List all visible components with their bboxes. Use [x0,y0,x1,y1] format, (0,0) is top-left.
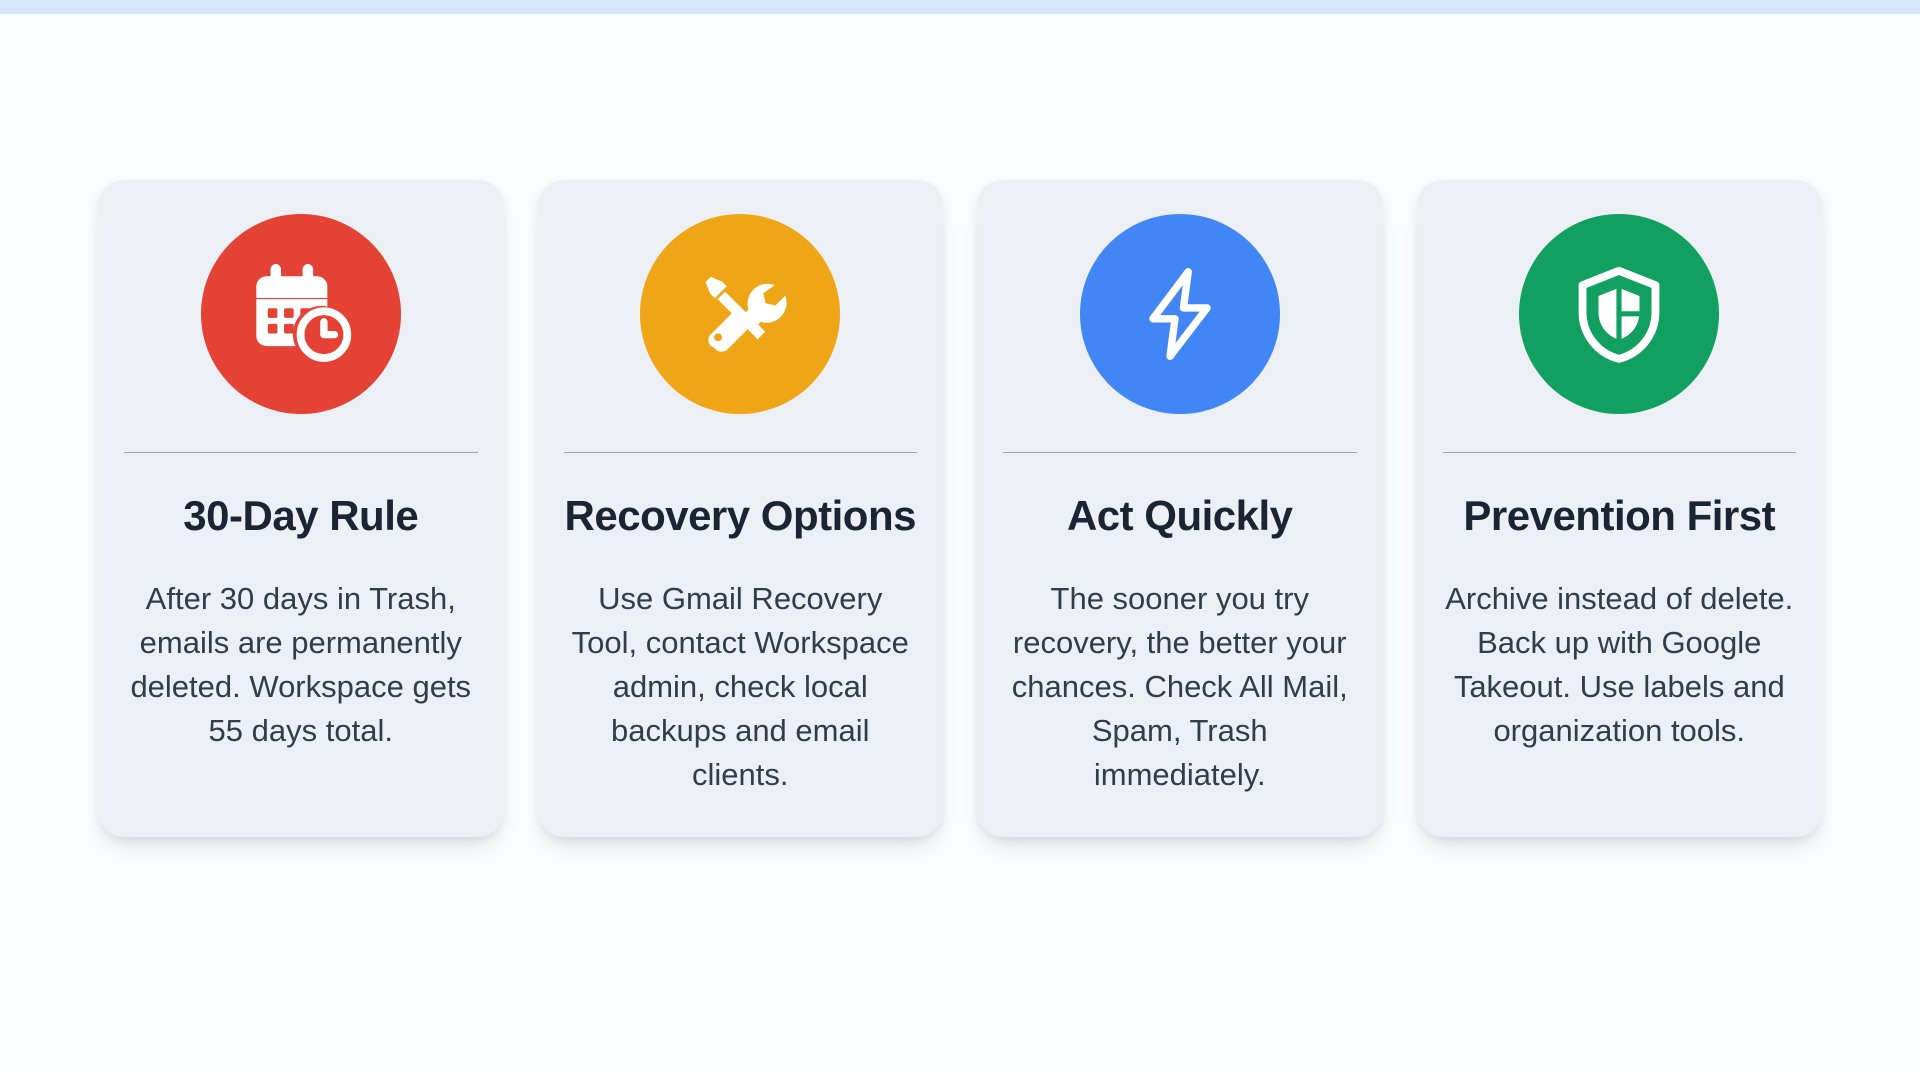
card-divider [1003,452,1357,453]
card-body: The sooner you try recovery, the better … [1003,577,1357,797]
card-title: 30-Day Rule [183,491,418,541]
card-divider [1443,452,1797,453]
cards-stage: 30-Day Rule After 30 days in Trash, emai… [0,14,1920,1072]
card-divider [564,452,918,453]
top-accent-strip [0,0,1920,14]
tools-icon-badge [640,214,840,414]
info-card-row: 30-Day Rule After 30 days in Trash, emai… [98,180,1822,837]
info-card-act-quickly[interactable]: Act Quickly The sooner you try recovery,… [977,180,1383,837]
card-body: Archive instead of delete. Back up with … [1443,577,1797,753]
calendar-clock-icon [246,259,356,369]
shield-icon [1565,260,1673,368]
card-title: Act Quickly [1067,491,1293,541]
shield-icon-badge [1519,214,1719,414]
card-body: After 30 days in Trash, emails are perma… [124,577,478,753]
card-divider [124,452,478,453]
calendar-clock-icon-badge [201,214,401,414]
card-title: Recovery Options [565,491,916,541]
info-card-recovery-options[interactable]: Recovery Options Use Gmail Recovery Tool… [538,180,944,837]
lightning-bolt-icon [1128,262,1232,366]
card-title: Prevention First [1463,491,1775,541]
info-card-prevention-first[interactable]: Prevention First Archive instead of dele… [1417,180,1823,837]
card-body: Use Gmail Recovery Tool, contact Workspa… [564,577,918,797]
tools-icon [684,258,796,370]
info-card-30-day-rule[interactable]: 30-Day Rule After 30 days in Trash, emai… [98,180,504,837]
lightning-bolt-icon-badge [1080,214,1280,414]
